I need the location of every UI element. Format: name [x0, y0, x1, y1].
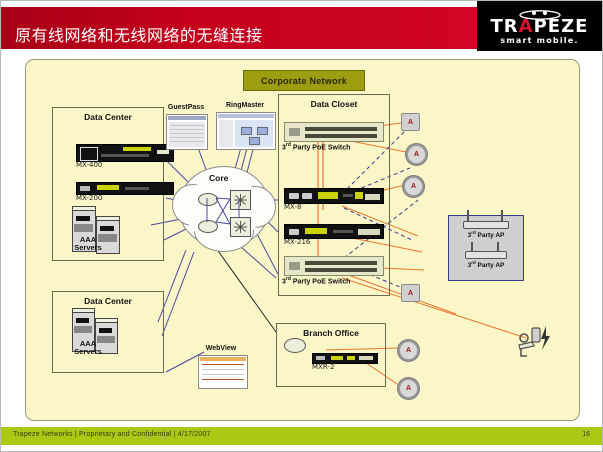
zone-branch-office-label: Branch Office: [277, 328, 385, 338]
tpap1-post: Party AP: [476, 232, 505, 239]
ap-3-letter: A: [411, 183, 416, 190]
device-mx-200-label: MX-200: [76, 194, 102, 202]
device-poe-switch-top-label: 3rd Party PoE Switch: [282, 142, 386, 151]
slide-root: 原有线网络和无线网络的无缝连接 TRAPEZE smart mobile.: [0, 0, 603, 452]
brand-tagline: smart mobile.: [477, 36, 602, 45]
access-point-ap-6: A: [398, 378, 419, 399]
device-mx-216: [284, 224, 384, 239]
poe-bot-post: Party PoE Switch: [291, 278, 351, 285]
trapeze-swing-icon: [518, 7, 562, 18]
access-point-ap-4: A: [401, 284, 420, 302]
zone-data-center-bottom-label: Data Center: [53, 296, 163, 306]
aaa-bot-line2: Servers: [74, 347, 102, 356]
footer-bar: Trapeze Networks | Proprietary and Confi…: [1, 427, 603, 445]
device-poe-switch-top: [284, 122, 384, 142]
access-point-ap-5: A: [398, 340, 419, 361]
device-aaa-servers-top-label: AAA Servers: [68, 236, 108, 252]
bottom-strip: [1, 445, 603, 451]
device-poe-switch-bottom: [284, 256, 384, 276]
wireless-user-icon: [516, 322, 556, 360]
aaa-top-line2: Servers: [74, 243, 102, 252]
app-guestpass-screenshot: [166, 114, 208, 150]
app-webview-label: WebView: [198, 345, 244, 352]
ap-6-letter: A: [406, 385, 411, 392]
app-ringmaster-screenshot: [216, 112, 276, 150]
core-internal-links: [196, 190, 256, 240]
device-mx-216-label: MX-216: [284, 238, 310, 246]
ap-1-letter: A: [408, 119, 413, 126]
third-party-ap-1-label: 3rd Party AP: [449, 230, 523, 239]
access-point-ap-2: A: [406, 144, 427, 165]
access-point-ap-1: A: [401, 113, 420, 131]
brand-part1: TR: [491, 16, 519, 37]
corporate-network-banner: Corporate Network: [243, 70, 365, 91]
device-mx-400-label: MX-400: [76, 161, 102, 169]
third-party-ap-group: 3rd Party AP 3rd Party AP: [448, 215, 524, 281]
footer-text: Trapeze Networks | Proprietary and Confi…: [13, 431, 211, 438]
page-number: 16: [582, 431, 590, 438]
ap-2-letter: A: [414, 151, 419, 158]
zone-data-closet-label: Data Closet: [279, 99, 389, 109]
brand-logo-inner: TRAPEZE smart mobile.: [477, 7, 602, 45]
corporate-network-label: Corporate Network: [261, 76, 347, 86]
ap-4-letter: A: [408, 290, 413, 297]
poe-top-post: Party PoE Switch: [291, 144, 351, 151]
access-point-ap-3: A: [403, 176, 424, 197]
device-mxr-2-label: MXR-2: [312, 363, 334, 371]
device-mx-8-label: MX-8: [284, 203, 301, 211]
device-poe-switch-bottom-label: 3rd Party PoE Switch: [282, 276, 386, 285]
zone-data-center-top-label: Data Center: [53, 112, 163, 122]
ap-5-letter: A: [406, 347, 411, 354]
device-aaa-servers-bottom-label: AAA Servers: [68, 340, 108, 356]
device-mx-8: [284, 188, 384, 204]
device-mx-400: [76, 144, 174, 162]
network-diagram-canvas: Corporate Network Data Center MX-400 MX-…: [25, 59, 580, 421]
brand-wordmark: TRAPEZE: [477, 18, 602, 35]
page-title: 原有线网络和无线网络的无缝连接: [15, 22, 263, 46]
tpap2-post: Party AP: [476, 262, 505, 269]
app-webview-screenshot: [198, 355, 248, 389]
brand-logo: TRAPEZE smart mobile.: [477, 1, 602, 51]
third-party-ap-2-label: 3rd Party AP: [449, 260, 523, 269]
app-ringmaster-label: RingMaster: [214, 102, 276, 109]
branch-office-router: [284, 338, 306, 353]
core-label: Core: [209, 173, 228, 183]
app-guestpass-label: GuestPass: [158, 104, 214, 111]
